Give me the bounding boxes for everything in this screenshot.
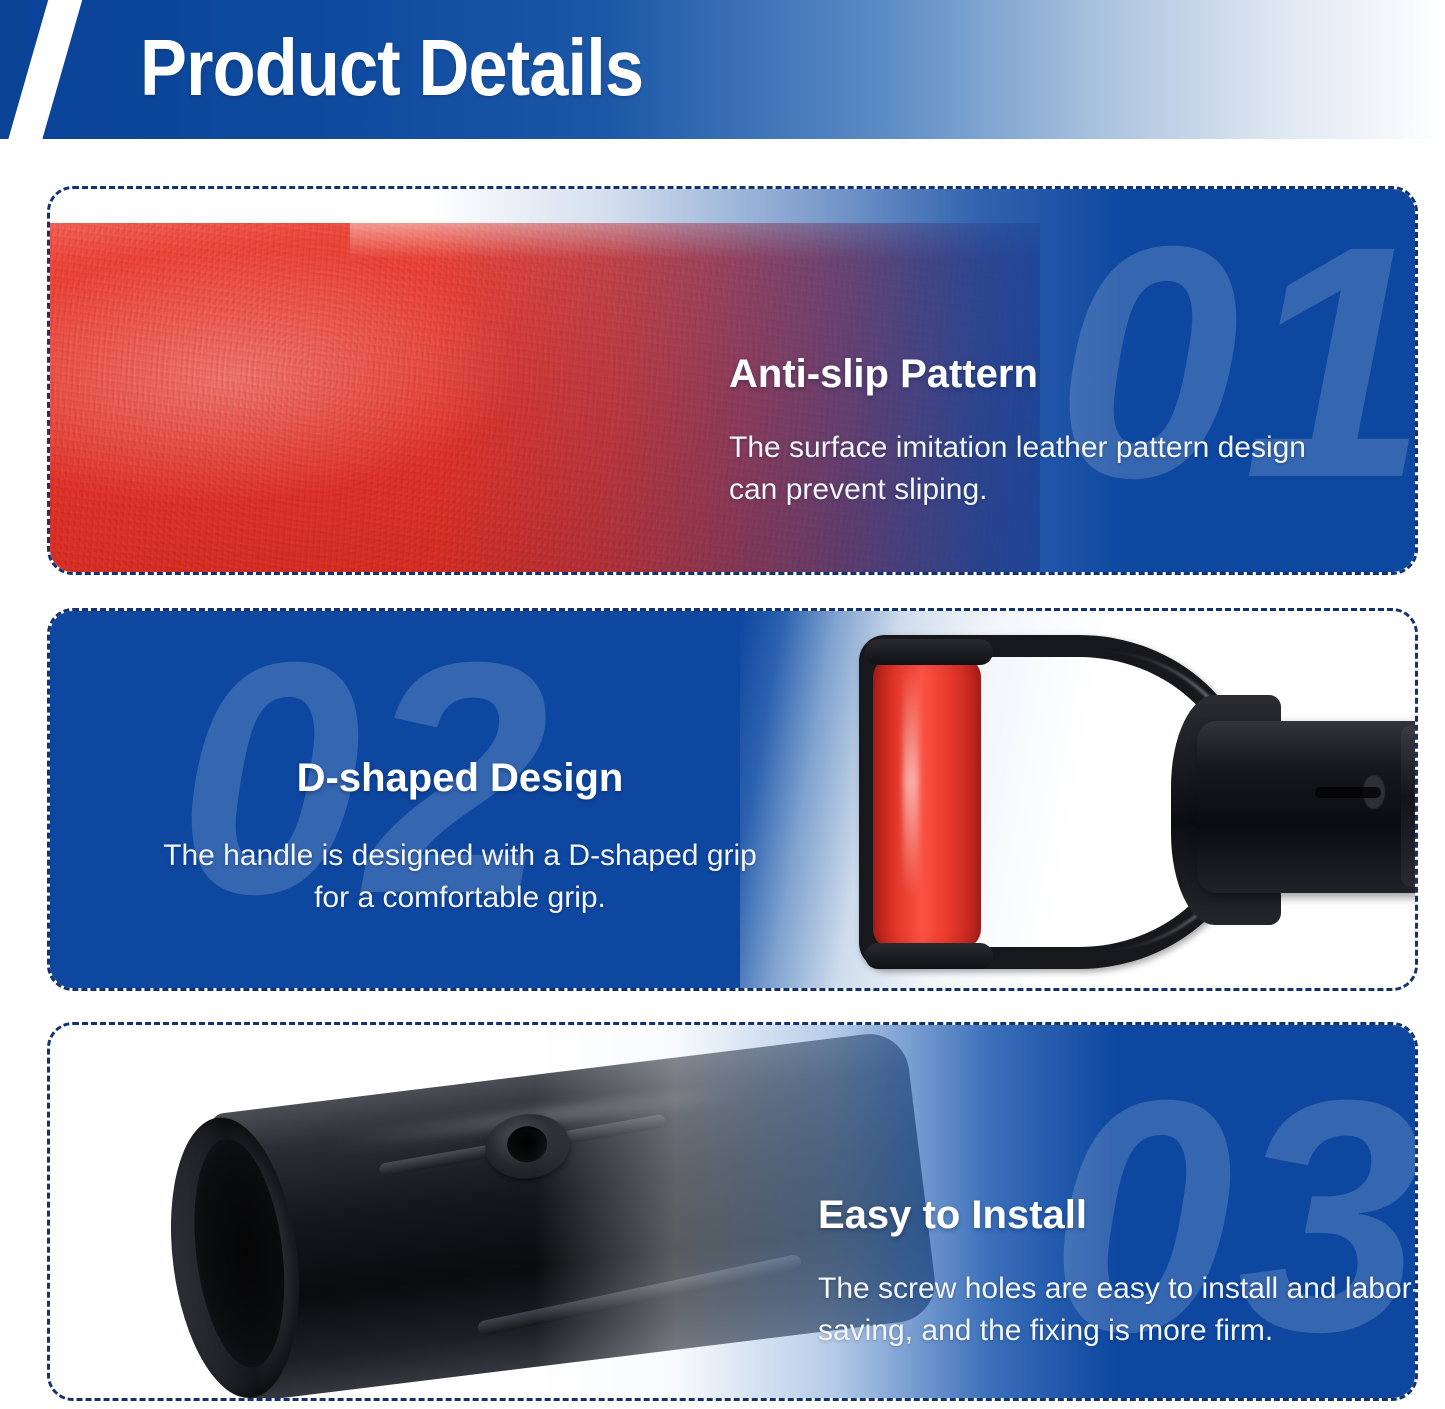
grip-cap-bottom [865, 943, 993, 969]
grip-cap-top [865, 639, 993, 665]
red-grip-highlight [903, 669, 919, 895]
panel-03-text-block: Easy to Install The screw holes are easy… [818, 1190, 1415, 1352]
panel-01-text-block: Anti-slip Pattern The surface imitation … [729, 349, 1329, 511]
panel-01-heading: Anti-slip Pattern [729, 349, 1329, 399]
panel-02-content: 02 D-shaped Design The handle is designe… [50, 611, 1415, 988]
detail-panel-02: 02 D-shaped Design The handle is designe… [47, 608, 1418, 991]
panel-01-content: 01 Anti-slip Pattern The surface imitati… [50, 189, 1415, 572]
red-grip [873, 657, 981, 949]
socket-body [1197, 721, 1415, 893]
detail-panel-03: 03 Easy to Install The screw holes are e… [47, 1022, 1418, 1401]
panel-03-content: 03 Easy to Install The screw holes are e… [50, 1025, 1415, 1398]
panel-01-body: The surface imitation leather pattern de… [729, 427, 1329, 511]
d-shaped-handle-photo [845, 629, 1415, 977]
panel-02-text-block: D-shaped Design The handle is designed w… [150, 753, 770, 919]
panel-02-body: The handle is designed with a D-shaped g… [150, 835, 770, 919]
panel-03-heading: Easy to Install [818, 1190, 1415, 1240]
panel-02-heading: D-shaped Design [150, 753, 770, 803]
product-details-infographic: Product Details 01 Anti-slip Pattern The… [0, 0, 1445, 1409]
socket-notch [1315, 787, 1381, 798]
page-title: Product Details [140, 16, 643, 120]
socket-end-cap [1401, 725, 1415, 887]
header-banner: Product Details [0, 0, 1445, 139]
detail-panel-01: 01 Anti-slip Pattern The surface imitati… [47, 186, 1418, 575]
panel-03-body: The screw holes are easy to install and … [818, 1268, 1415, 1352]
